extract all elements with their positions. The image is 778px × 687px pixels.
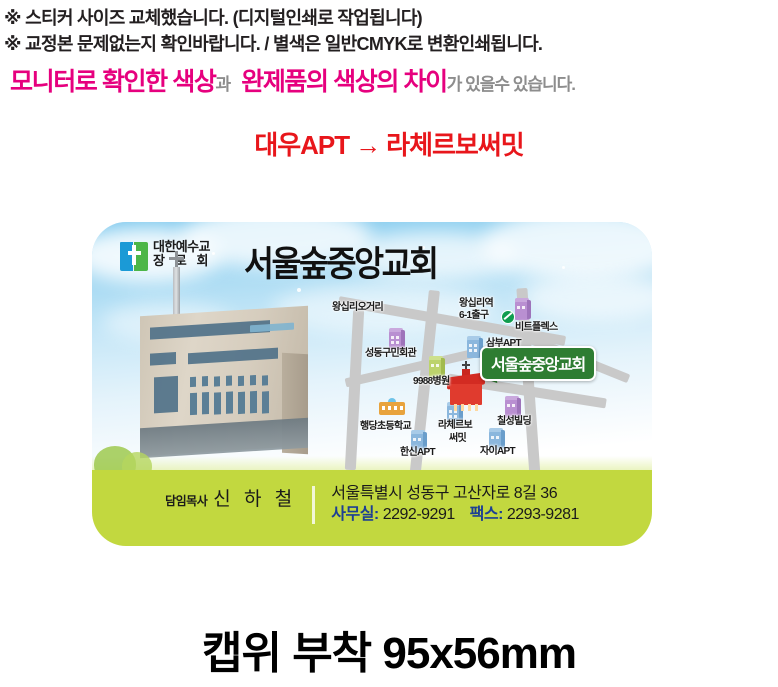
map-label: 삼부APT [486, 338, 521, 349]
denomination-logo-text: 대한예수교 장 로 회 [153, 240, 212, 267]
fax-label: 팩스: [470, 506, 503, 523]
building-signage [250, 323, 294, 333]
church-building-photo [112, 267, 317, 472]
office-phone-number: 2292-9291 [383, 506, 455, 523]
color-warning-line: 모니터로 확인한 색상과 완제품의 색상의 차이가 있을수 있습니다. [4, 69, 774, 97]
right-arrow-icon: → [349, 130, 386, 160]
warning-text-part1: 모니터로 확인한 색상 [10, 68, 216, 96]
contact-info: 서울특별시 성동구 고산자로 8길 36 사무실: 2292-9291 팩스: … [331, 484, 579, 526]
map-label: 9988병원 [413, 376, 449, 387]
map-marker-school [379, 398, 405, 415]
pastor-name: 신 하 철 [207, 484, 296, 511]
denomination-line-2: 장 로 회 [153, 254, 212, 268]
map-label: 성동구민회관 [365, 348, 416, 359]
map-marker-building [387, 328, 405, 350]
map-marker-building [503, 396, 521, 418]
notice-block: ※ 스티커 사이즈 교체했습니다. (디지털인쇄로 작업됩니다) ※ 교정본 문… [0, 0, 778, 97]
subway-exit-icon [501, 310, 515, 324]
denomination-line-1: 대한예수교 [153, 240, 212, 254]
sticker-size-caption: 캡위 부착 95x56mm [0, 617, 778, 681]
location-map: 서울숲중앙교회 왕십리오거리왕십리역6-1출구비트플렉스성동구민회관삼부APT9… [327, 294, 647, 474]
map-label: 자이APT [480, 446, 515, 457]
map-label: 행당초등학교 [360, 421, 411, 432]
pastor-info: 담임목사 신 하 철 [165, 484, 312, 511]
map-marker-building [427, 356, 445, 378]
map-marker-building [513, 298, 531, 320]
map-label: 써밋 [449, 433, 466, 444]
map-label: 비트플렉스 [515, 322, 558, 333]
notice-line-1: ※ 스티커 사이즈 교체했습니다. (디지털인쇄로 작업됩니다) [4, 6, 774, 32]
map-callout-label: 서울숲중앙교회 [491, 357, 585, 374]
fax-number: 2293-9281 [507, 506, 579, 523]
card-footer-bar: 담임목사 신 하 철 서울특별시 성동구 고산자로 8길 36 사무실: 229… [92, 470, 652, 546]
change-note-from: 대우APT [254, 130, 349, 160]
office-phone-label: 사무실: [331, 506, 379, 523]
change-note: 대우APT→라체르보써밋 [0, 125, 778, 162]
footer-divider [312, 486, 315, 524]
warning-text-small1: 과 [216, 75, 231, 94]
church-phones: 사무실: 2292-9291 팩스: 2293-9281 [331, 505, 579, 526]
map-label: 왕십리역 [459, 298, 493, 309]
warning-text-small2: 가 있을수 있습니다. [447, 75, 575, 94]
notice-line-2: ※ 교정본 문제없는지 확인바랍니다. / 별색은 일반CMYK로 변환인쇄됩니… [4, 32, 774, 58]
map-label: 왕십리오거리 [332, 302, 383, 313]
map-label: 6-1출구 [459, 310, 488, 321]
warning-text-part2b: 완제품의 색상의 차이 [241, 68, 447, 96]
map-label: 라체르보 [438, 420, 472, 431]
map-callout-church: 서울숲중앙교회 [480, 346, 596, 381]
map-road [345, 310, 364, 470]
change-note-to: 라체르보써밋 [386, 130, 524, 160]
church-address: 서울특별시 성동구 고산자로 8길 36 [331, 484, 579, 505]
map-label: 한신APT [400, 447, 435, 458]
warning-text-part2 [230, 68, 241, 96]
map-label: 칠성빌딩 [497, 416, 531, 427]
pastor-role-label: 담임목사 [165, 492, 207, 509]
business-card-preview: 대한예수교 장 로 회 서울숲중앙교회 [92, 222, 652, 546]
